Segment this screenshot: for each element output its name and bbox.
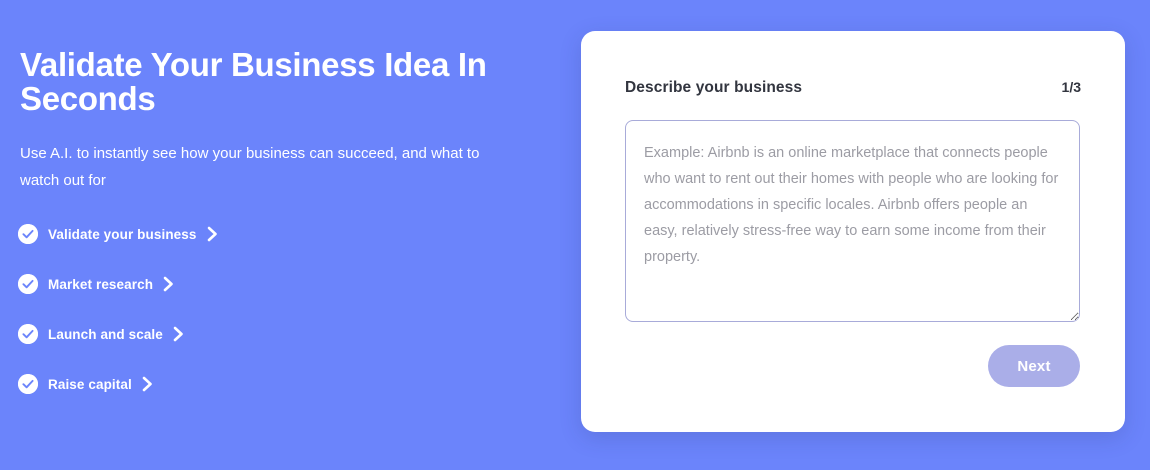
hero-section: Validate Your Business Idea In Seconds U… bbox=[20, 48, 550, 194]
card-title: Describe your business bbox=[625, 79, 802, 97]
check-circle-icon bbox=[18, 324, 38, 344]
chevron-right-icon[interactable] bbox=[206, 225, 219, 243]
check-circle-icon bbox=[18, 224, 38, 244]
chevron-right-icon[interactable] bbox=[162, 275, 175, 293]
page-title: Validate Your Business Idea In Seconds bbox=[20, 48, 525, 116]
checklist-item-label: Raise capital bbox=[48, 377, 132, 392]
chevron-right-icon[interactable] bbox=[141, 375, 154, 393]
checklist-item-label: Market research bbox=[48, 277, 153, 292]
step-indicator: 1/3 bbox=[1062, 79, 1081, 95]
checklist-item-label: Validate your business bbox=[48, 227, 197, 242]
business-description-input[interactable] bbox=[625, 120, 1080, 322]
next-button[interactable]: Next bbox=[988, 345, 1080, 387]
business-description-field-wrapper bbox=[625, 120, 1080, 322]
checklist-item-validate-your-business[interactable]: Validate your business bbox=[18, 220, 219, 248]
hero-subtitle: Use A.I. to instantly see how your busin… bbox=[20, 116, 480, 194]
card-header: Describe your business 1/3 bbox=[625, 79, 1081, 97]
feature-checklist: Validate your business Market research bbox=[18, 220, 438, 420]
checklist-item-label: Launch and scale bbox=[48, 327, 163, 342]
checklist-item-raise-capital[interactable]: Raise capital bbox=[18, 370, 154, 398]
chevron-right-icon[interactable] bbox=[172, 325, 185, 343]
checklist-item-market-research[interactable]: Market research bbox=[18, 270, 175, 298]
checklist-item-launch-and-scale[interactable]: Launch and scale bbox=[18, 320, 185, 348]
check-circle-icon bbox=[18, 274, 38, 294]
check-circle-icon bbox=[18, 374, 38, 394]
landing-page: Validate Your Business Idea In Seconds U… bbox=[0, 0, 1150, 470]
